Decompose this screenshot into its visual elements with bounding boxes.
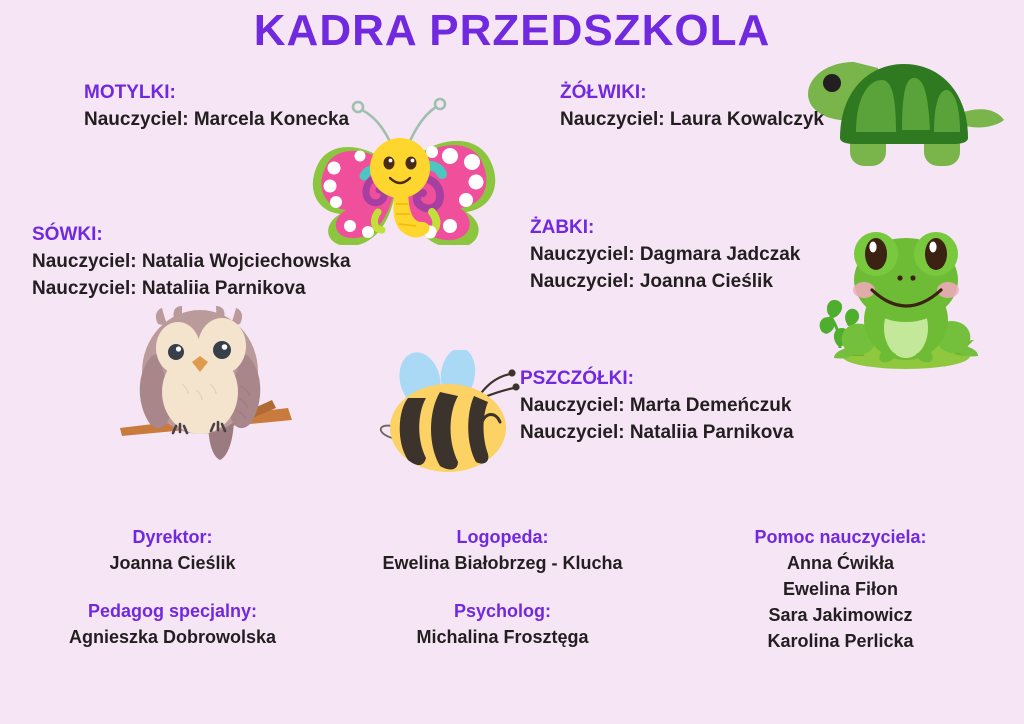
group-motylki: MOTYLKI: Nauczyciel: Marcela Konecka [84,80,349,133]
group-sowki-heading: SÓWKI: [32,222,351,248]
group-zabki-heading: ŻABKI: [530,215,800,241]
staff-entry-pomoc: Pomoc nauczyciela: Anna Ćwikła Ewelina F… [708,524,973,654]
group-pszczolki-teacher-1: Nauczyciel: Marta Demeńczuk [520,392,794,419]
staff-entry-psycholog: Psycholog: Michalina Frosztęga [370,598,635,650]
group-sowki-teacher-1: Nauczyciel: Natalia Wojciechowska [32,248,351,275]
group-zolwiki: ŻÓŁWIKI: Nauczyciel: Laura Kowalczyk [560,80,824,133]
group-sowki: SÓWKI: Nauczyciel: Natalia Wojciechowska… [32,222,351,302]
group-zabki-teacher-2: Nauczyciel: Joanna Cieślik [530,268,800,295]
staff-name-psycholog-1: Michalina Frosztęga [370,624,635,650]
group-motylki-heading: MOTYLKI: [84,80,349,106]
staff-entry-pedagog: Pedagog specjalny: Agnieszka Dobrowolska [40,598,305,650]
bee-illustration [378,350,528,480]
staff-entry-logopeda: Logopeda: Ewelina Białobrzeg - Klucha [370,524,635,576]
group-pszczolki-heading: PSZCZÓŁKI: [520,366,794,392]
staff-column-middle: Logopeda: Ewelina Białobrzeg - Klucha Ps… [370,524,635,650]
staff-entry-dyrektor: Dyrektor: Joanna Cieślik [40,524,305,576]
staff-role-dyrektor: Dyrektor: [40,524,305,550]
staff-name-pomoc-2: Ewelina Fiłon [708,576,973,602]
staff-role-pomoc: Pomoc nauczyciela: [708,524,973,550]
staff-role-logopeda: Logopeda: [370,524,635,550]
group-zolwiki-heading: ŻÓŁWIKI: [560,80,824,106]
group-pszczolki-teacher-2: Nauczyciel: Nataliia Parnikova [520,419,794,446]
group-pszczolki: PSZCZÓŁKI: Nauczyciel: Marta Demeńczuk N… [520,366,794,446]
owl-illustration [112,300,302,465]
staff-name-pedagog-1: Agnieszka Dobrowolska [40,624,305,650]
staff-name-pomoc-1: Anna Ćwikła [708,550,973,576]
staff-name-logopeda-1: Ewelina Białobrzeg - Klucha [370,550,635,576]
group-motylki-teacher-1: Nauczyciel: Marcela Konecka [84,106,349,133]
group-sowki-teacher-2: Nauczyciel: Nataliia Parnikova [32,275,351,302]
staff-role-psycholog: Psycholog: [370,598,635,624]
group-zolwiki-teacher-1: Nauczyciel: Laura Kowalczyk [560,106,824,133]
frog-illustration [802,228,997,373]
staff-name-pomoc-4: Karolina Perlicka [708,628,973,654]
group-zabki-teacher-1: Nauczyciel: Dagmara Jadczak [530,241,800,268]
staff-column-right: Pomoc nauczyciela: Anna Ćwikła Ewelina F… [708,524,973,654]
poster-canvas: KADRA PRZEDSZKOLA [0,0,1024,724]
staff-column-left: Dyrektor: Joanna Cieślik Pedagog specjal… [40,524,305,650]
staff-name-pomoc-3: Sara Jakimowicz [708,602,973,628]
group-zabki: ŻABKI: Nauczyciel: Dagmara Jadczak Naucz… [530,215,800,295]
staff-name-dyrektor-1: Joanna Cieślik [40,550,305,576]
staff-role-pedagog: Pedagog specjalny: [40,598,305,624]
